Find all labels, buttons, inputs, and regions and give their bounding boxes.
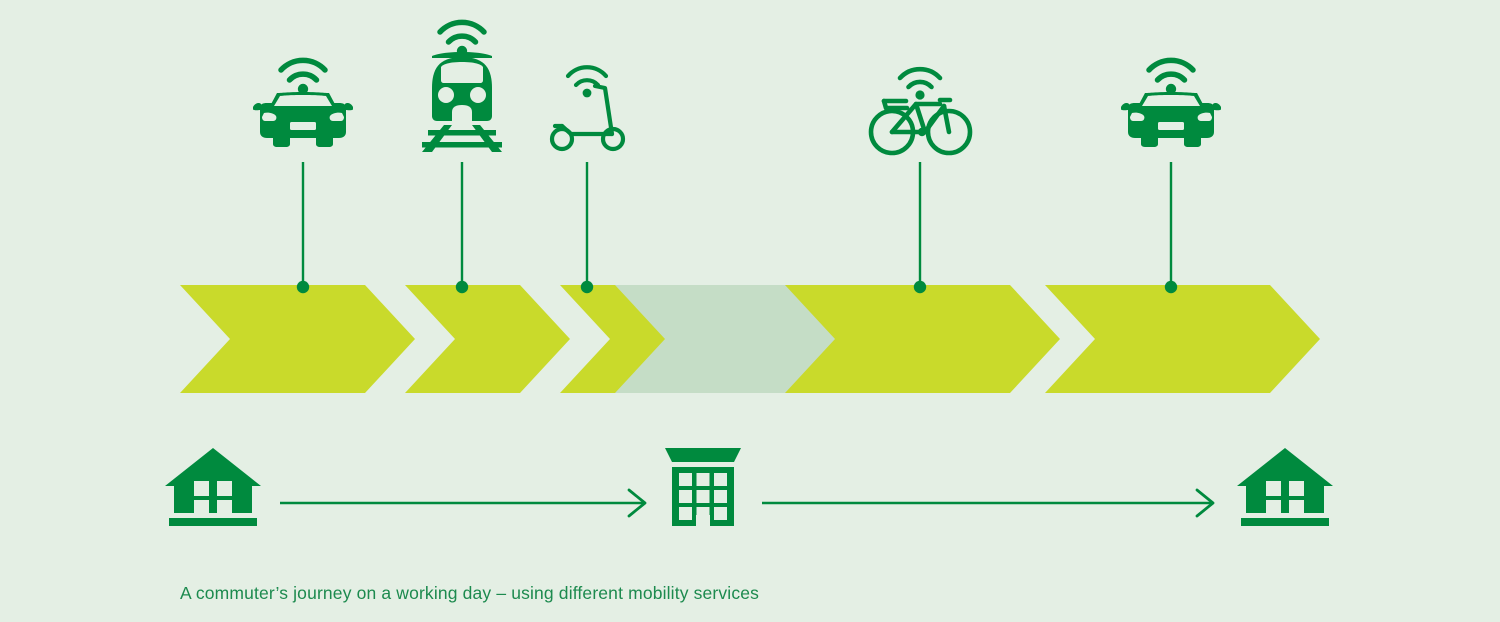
house-shape	[165, 448, 261, 526]
office-windows	[679, 473, 727, 520]
commuter-journey-infographic: A commuter’s journey on a working day – …	[0, 0, 1500, 622]
home-icon[interactable]	[165, 448, 261, 526]
infographic-caption: A commuter’s journey on a working day – …	[180, 583, 759, 604]
office-icon[interactable]	[665, 448, 741, 526]
journey-row	[0, 0, 1500, 622]
office-door	[696, 515, 710, 526]
journey-arrow	[762, 490, 1213, 516]
home-icon[interactable]	[1237, 448, 1333, 526]
journey-arrow	[280, 490, 645, 516]
house-shape	[1237, 448, 1333, 526]
